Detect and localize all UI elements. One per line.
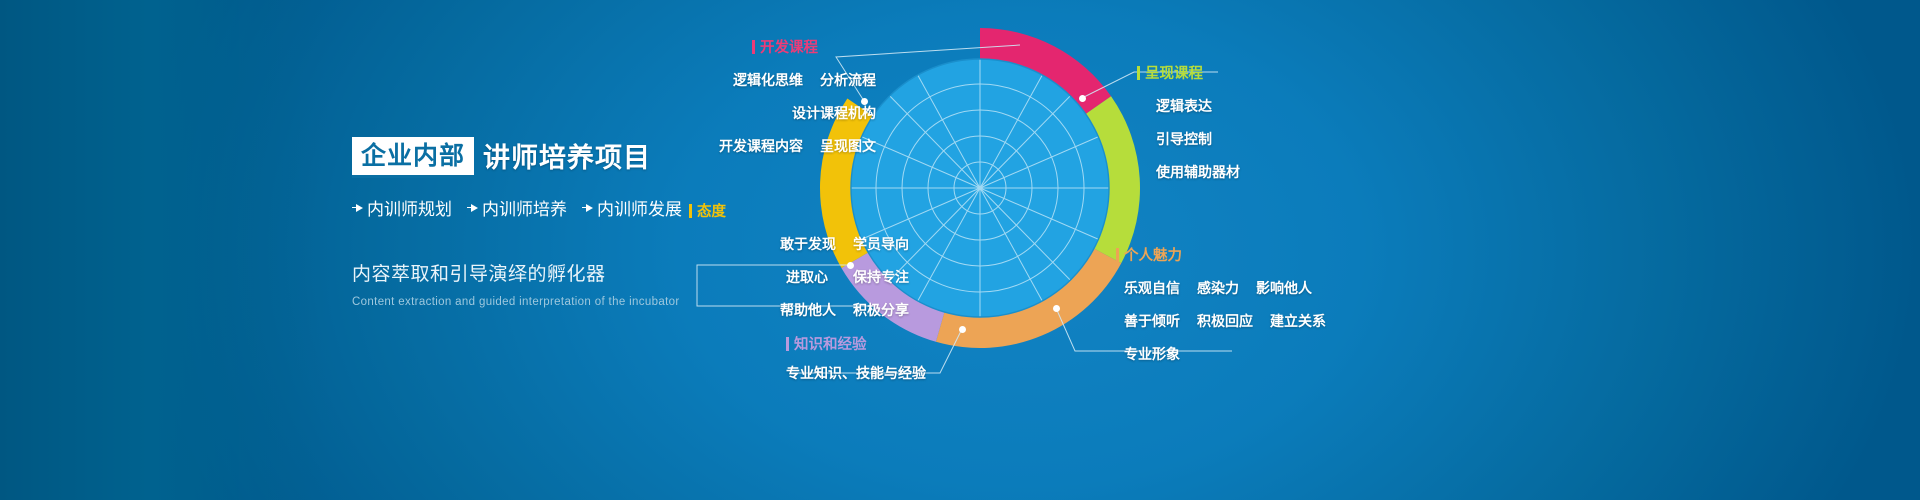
callout-heading-text: 呈现课程 [1145,62,1203,83]
callout-heading-knowledge: 知识和经验 [786,333,1036,354]
callout-heading-present: 呈现课程 [1137,62,1367,83]
callout-line: 进取心保持专注 [689,267,909,287]
arrow-right-icon [356,204,363,212]
callout-knowledge-experience: 知识和经验 专业知识、技能与经验 [786,333,1036,383]
callout-line: 善于倾听积极回应建立关系 [1124,311,1376,331]
bullet-label-0: 内训师规划 [367,195,452,220]
callout-develop-course: 开发课程 逻辑化思维分析流程 设计课程机构 开发课程内容呈现图文 [676,36,876,156]
arrow-right-icon [586,204,593,212]
callout-line: 使用辅助器材 [1156,162,1367,182]
callout-line: 专业知识、技能与经验 [786,363,1036,383]
accent-bar-icon [752,40,755,54]
callout-heading-text: 态度 [697,200,726,221]
callout-personal-charm: 个人魅力 乐观自信感染力影响他人 善于倾听积极回应建立关系 专业形象 [1116,244,1376,364]
callout-heading-attitude: 态度 [689,200,909,221]
accent-bar-icon [1137,66,1140,80]
bullet-item-0[interactable]: 内训师规划 [352,195,452,220]
accent-bar-icon [1116,248,1119,262]
callout-heading-text: 个人魅力 [1124,244,1182,265]
banner-root: 企业内部 讲师培养项目 内训师规划 内训师培养 内训师发展 内容萃取和引导演绎的… [0,0,1920,500]
callout-line: 设计课程机构 [676,103,876,123]
callout-line: 专业形象 [1124,344,1376,364]
callout-line: 开发课程内容呈现图文 [676,136,876,156]
accent-bar-icon [689,204,692,218]
callout-heading-text: 开发课程 [760,36,818,57]
bullet-label-1: 内训师培养 [482,195,567,220]
callout-heading-text: 知识和经验 [794,333,867,354]
callout-line: 敢于发现学员导向 [689,234,909,254]
callout-present-course: 呈现课程 逻辑表达 引导控制 使用辅助器材 [1137,62,1367,182]
leader-dot-knowledge [959,326,966,333]
callout-heading-charm: 个人魅力 [1116,244,1376,265]
callout-line: 引导控制 [1156,129,1367,149]
title-main: 讲师培养项目 [483,145,651,178]
callout-line: 逻辑化思维分析流程 [676,70,876,90]
callout-line: 帮助他人积极分享 [689,300,909,320]
callout-line: 逻辑表达 [1156,96,1367,116]
arrow-right-icon [471,204,478,212]
bullet-item-1[interactable]: 内训师培养 [467,195,567,220]
title-badge: 企业内部 [352,137,474,178]
callout-heading-develop: 开发课程 [752,36,876,57]
callout-line: 乐观自信感染力影响他人 [1124,278,1376,298]
leader-dot-charm [1053,305,1060,312]
bullet-label-2: 内训师发展 [597,195,682,220]
leader-dot-present [1079,95,1086,102]
callout-attitude: 态度 敢于发现学员导向 进取心保持专注 帮助他人积极分享 [689,200,909,320]
bullet-item-2[interactable]: 内训师发展 [582,195,682,220]
accent-bar-icon [786,337,789,351]
